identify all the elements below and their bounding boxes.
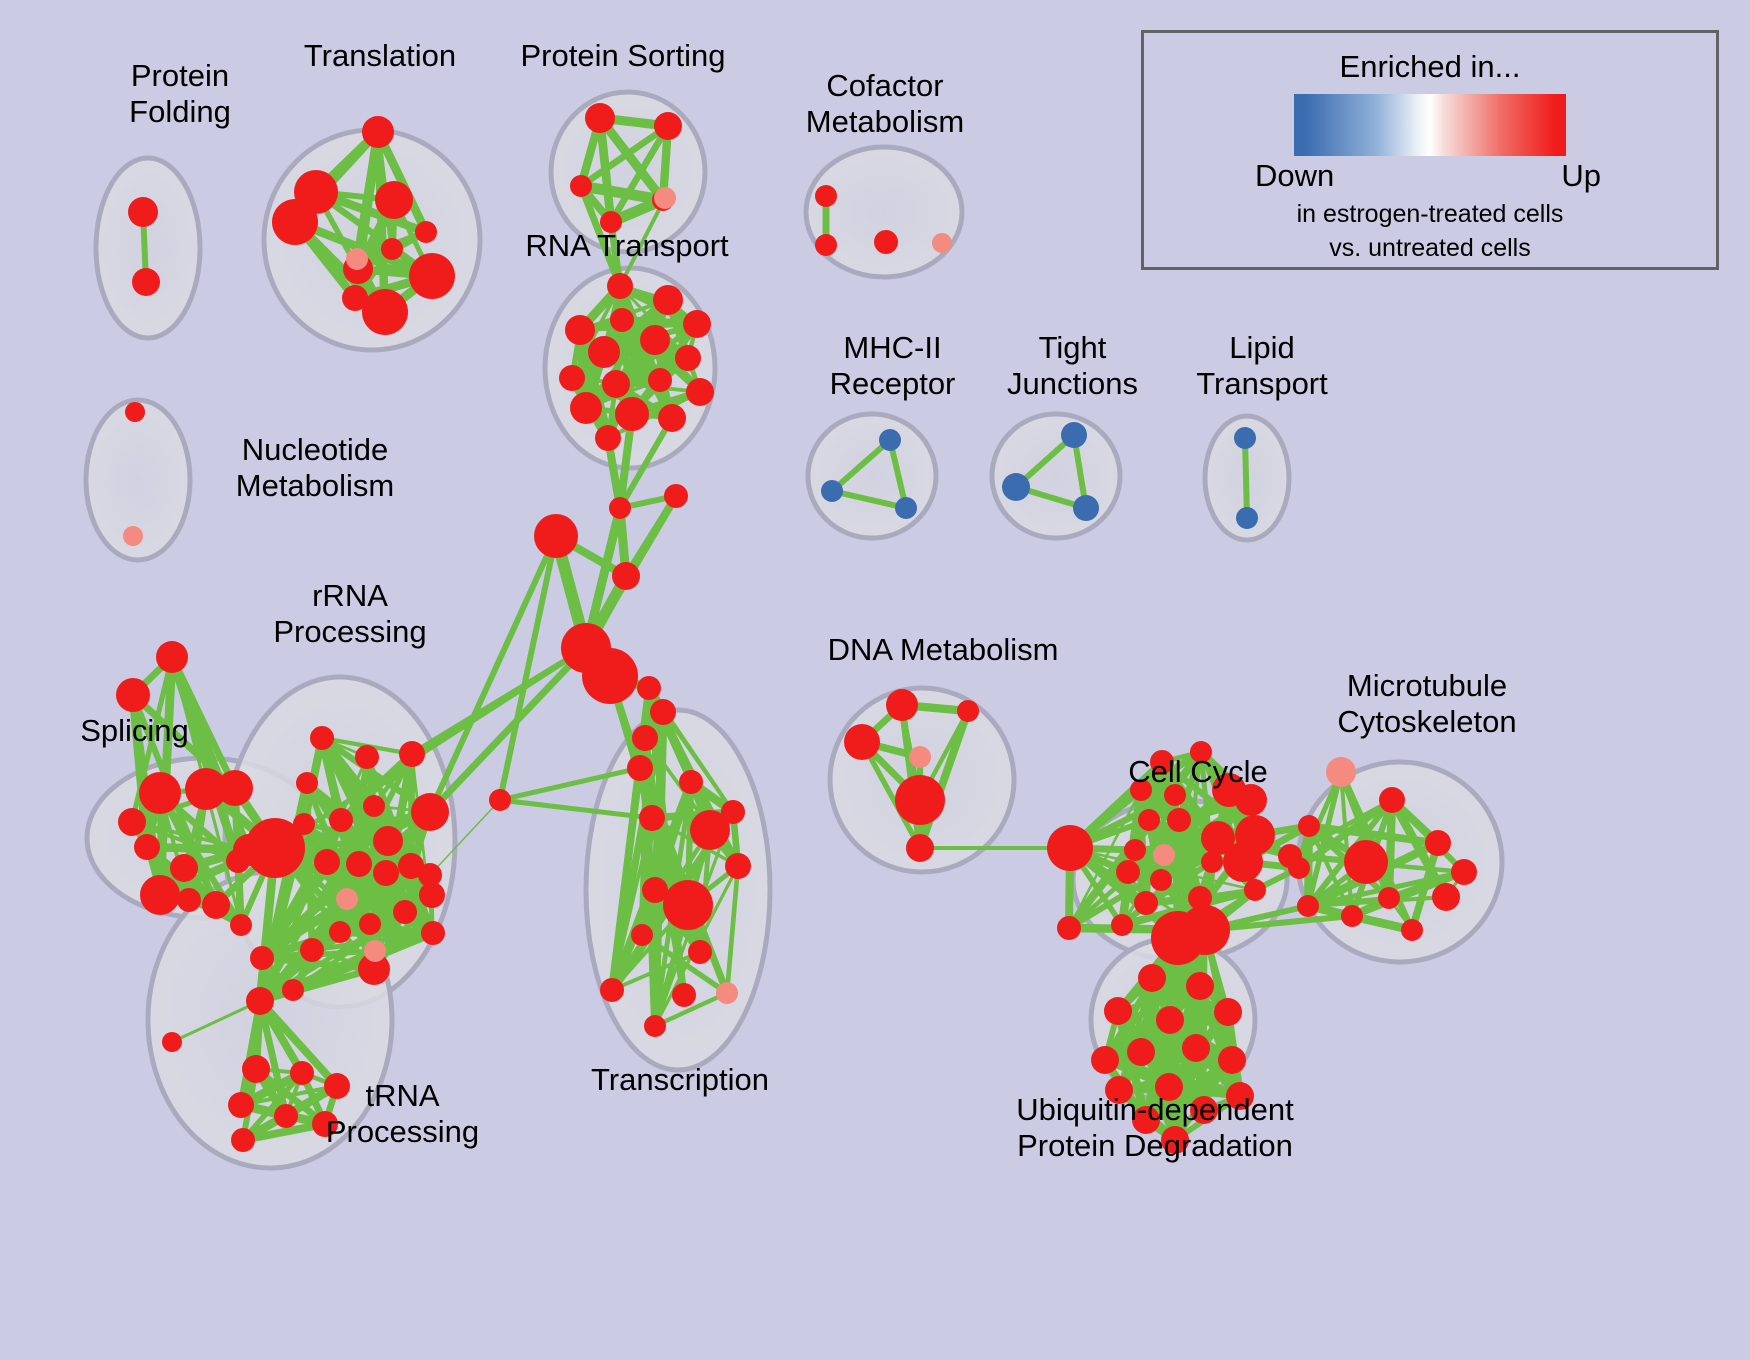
network-node[interactable] bbox=[1451, 859, 1477, 885]
network-node[interactable] bbox=[140, 875, 180, 915]
cluster-label-splicing: Splicing bbox=[62, 713, 207, 749]
cluster-label-cell-cycle: Cell Cycle bbox=[1108, 754, 1288, 790]
network-node[interactable] bbox=[336, 888, 358, 910]
network-node[interactable] bbox=[225, 779, 247, 801]
network-node[interactable] bbox=[1124, 839, 1146, 861]
cluster-label-nucleotide-metabolism: Nucleotide Metabolism bbox=[200, 432, 430, 504]
network-node[interactable] bbox=[663, 880, 713, 930]
network-node[interactable] bbox=[1432, 883, 1460, 911]
network-node[interactable] bbox=[1186, 972, 1214, 1000]
network-node[interactable] bbox=[627, 755, 653, 781]
network-node[interactable] bbox=[272, 199, 318, 245]
network-node[interactable] bbox=[346, 248, 368, 270]
network-node[interactable] bbox=[609, 497, 631, 519]
cluster-label-lipid-transport: Lipid Transport bbox=[1172, 330, 1352, 402]
network-node[interactable] bbox=[1234, 427, 1256, 449]
network-node[interactable] bbox=[1047, 825, 1093, 871]
network-node[interactable] bbox=[874, 230, 898, 254]
network-node[interactable] bbox=[228, 1092, 254, 1118]
network-node[interactable] bbox=[1127, 1038, 1155, 1066]
network-node[interactable] bbox=[1218, 1046, 1246, 1074]
network-node[interactable] bbox=[607, 273, 633, 299]
cluster-label-cofactor-metabolism: Cofactor Metabolism bbox=[790, 68, 980, 140]
network-node[interactable] bbox=[1297, 895, 1319, 917]
network-node[interactable] bbox=[879, 429, 901, 451]
network-node[interactable] bbox=[489, 789, 511, 811]
network-node[interactable] bbox=[602, 370, 630, 398]
network-node[interactable] bbox=[644, 1015, 666, 1037]
network-node[interactable] bbox=[1244, 879, 1266, 901]
legend-box: Enriched in... Down Up in estrogen-treat… bbox=[1141, 30, 1719, 270]
network-node[interactable] bbox=[132, 268, 160, 296]
network-node[interactable] bbox=[570, 392, 602, 424]
network-node[interactable] bbox=[1214, 998, 1242, 1026]
network-node[interactable] bbox=[595, 425, 621, 451]
legend-colorbar-wrap bbox=[1294, 94, 1566, 156]
cluster-label-protein-sorting: Protein Sorting bbox=[508, 38, 738, 74]
network-node[interactable] bbox=[170, 854, 198, 882]
network-edge bbox=[1245, 438, 1247, 518]
legend-colorbar bbox=[1294, 94, 1566, 156]
cluster-ellipse-mhc-ii-receptor[interactable] bbox=[808, 414, 936, 538]
network-node[interactable] bbox=[815, 234, 837, 256]
network-node[interactable] bbox=[1236, 507, 1258, 529]
network-node[interactable] bbox=[300, 938, 324, 962]
network-node[interactable] bbox=[419, 882, 445, 908]
legend-sub-line1: in estrogen-treated cells bbox=[1144, 199, 1716, 230]
network-node[interactable] bbox=[637, 676, 661, 700]
network-node[interactable] bbox=[123, 526, 143, 546]
network-node[interactable] bbox=[679, 770, 703, 794]
network-node[interactable] bbox=[1326, 757, 1356, 787]
network-node[interactable] bbox=[250, 946, 274, 970]
cluster-label-microtubule-cytoskeleton: Microtubule Cytoskeleton bbox=[1312, 668, 1542, 740]
legend-title: Enriched in... bbox=[1144, 49, 1716, 85]
network-node[interactable] bbox=[653, 285, 683, 315]
network-node[interactable] bbox=[1180, 905, 1230, 955]
network-node[interactable] bbox=[363, 795, 385, 817]
network-node[interactable] bbox=[162, 1032, 182, 1052]
network-node[interactable] bbox=[1379, 787, 1405, 813]
network-node[interactable] bbox=[393, 900, 417, 924]
network-node[interactable] bbox=[118, 808, 146, 836]
network-node[interactable] bbox=[1425, 830, 1451, 856]
network-node[interactable] bbox=[615, 397, 649, 431]
network-node[interactable] bbox=[1182, 1034, 1210, 1062]
network-node[interactable] bbox=[821, 480, 843, 502]
network-node[interactable] bbox=[202, 891, 230, 919]
network-node[interactable] bbox=[1134, 891, 1158, 915]
network-node[interactable] bbox=[675, 345, 701, 371]
network-node[interactable] bbox=[329, 921, 351, 943]
network-node[interactable] bbox=[355, 745, 379, 769]
network-node[interactable] bbox=[588, 336, 620, 368]
cluster-label-translation: Translation bbox=[275, 38, 485, 74]
network-node[interactable] bbox=[844, 724, 880, 760]
network-node[interactable] bbox=[156, 641, 188, 673]
network-node[interactable] bbox=[128, 197, 158, 227]
network-node[interactable] bbox=[362, 289, 408, 335]
network-node[interactable] bbox=[246, 987, 274, 1015]
network-node[interactable] bbox=[415, 221, 437, 243]
network-node[interactable] bbox=[242, 1055, 270, 1083]
network-node[interactable] bbox=[648, 368, 672, 392]
network-node[interactable] bbox=[600, 978, 624, 1002]
network-node[interactable] bbox=[373, 826, 403, 856]
network-node[interactable] bbox=[1167, 808, 1191, 832]
cluster-label-rna-transport: RNA Transport bbox=[512, 228, 742, 264]
network-node[interactable] bbox=[639, 805, 665, 831]
network-node[interactable] bbox=[373, 860, 399, 886]
cluster-label-rrna-processing: rRNA Processing bbox=[255, 578, 445, 650]
network-node[interactable] bbox=[116, 678, 150, 712]
network-edge bbox=[1204, 930, 1205, 1110]
network-node[interactable] bbox=[658, 404, 686, 432]
network-node[interactable] bbox=[245, 818, 305, 878]
network-node[interactable] bbox=[585, 103, 615, 133]
network-node[interactable] bbox=[1138, 809, 1160, 831]
network-node[interactable] bbox=[1116, 860, 1140, 884]
network-node[interactable] bbox=[375, 181, 413, 219]
network-node[interactable] bbox=[1057, 916, 1081, 940]
network-node[interactable] bbox=[632, 725, 658, 751]
network-node[interactable] bbox=[570, 175, 592, 197]
network-node[interactable] bbox=[362, 116, 394, 148]
network-node[interactable] bbox=[139, 772, 181, 814]
network-node[interactable] bbox=[565, 315, 595, 345]
network-node[interactable] bbox=[134, 834, 160, 860]
cluster-ellipse-protein-folding[interactable] bbox=[96, 158, 200, 338]
network-node[interactable] bbox=[895, 497, 917, 519]
cluster-label-ubiquitin-protein-degradation: Ubiquitin-dependent Protein Degradation bbox=[995, 1092, 1315, 1164]
legend-endpoints: Down Up bbox=[1255, 158, 1605, 196]
network-node[interactable] bbox=[559, 365, 585, 391]
network-node[interactable] bbox=[725, 853, 751, 879]
network-node[interactable] bbox=[274, 1104, 298, 1128]
network-node[interactable] bbox=[1156, 1006, 1184, 1034]
network-node[interactable] bbox=[399, 741, 425, 767]
network-node[interactable] bbox=[230, 914, 252, 936]
network-node[interactable] bbox=[282, 979, 304, 1001]
network-node[interactable] bbox=[886, 689, 918, 721]
network-node[interactable] bbox=[631, 924, 653, 946]
network-node[interactable] bbox=[296, 772, 318, 794]
network-node[interactable] bbox=[364, 940, 386, 962]
network-node[interactable] bbox=[895, 775, 945, 825]
network-node[interactable] bbox=[1298, 815, 1320, 837]
network-node[interactable] bbox=[610, 308, 634, 332]
network-node[interactable] bbox=[1153, 844, 1175, 866]
network-node[interactable] bbox=[346, 851, 372, 877]
network-node[interactable] bbox=[650, 699, 676, 725]
network-node[interactable] bbox=[359, 913, 381, 935]
network-node[interactable] bbox=[381, 238, 403, 260]
network-edge bbox=[430, 536, 556, 812]
network-node[interactable] bbox=[906, 834, 934, 862]
cluster-label-mhc-ii-receptor: MHC-II Receptor bbox=[800, 330, 985, 402]
cluster-label-dna-metabolism: DNA Metabolism bbox=[818, 632, 1068, 668]
network-node[interactable] bbox=[688, 940, 712, 964]
network-node[interactable] bbox=[310, 726, 334, 750]
network-node[interactable] bbox=[686, 378, 714, 406]
network-node[interactable] bbox=[582, 648, 638, 704]
network-node[interactable] bbox=[640, 325, 670, 355]
network-node[interactable] bbox=[1111, 914, 1133, 936]
cluster-label-protein-folding: Protein Folding bbox=[85, 58, 275, 130]
network-node[interactable] bbox=[1073, 495, 1099, 521]
network-node[interactable] bbox=[231, 1128, 255, 1152]
network-node[interactable] bbox=[721, 800, 745, 824]
network-node[interactable] bbox=[1104, 997, 1132, 1025]
network-node[interactable] bbox=[534, 514, 578, 558]
legend-sub-line2: vs. untreated cells bbox=[1144, 233, 1716, 264]
cluster-label-transcription: Transcription bbox=[575, 1062, 785, 1098]
network-node[interactable] bbox=[1344, 840, 1388, 884]
network-node[interactable] bbox=[329, 808, 353, 832]
network-node[interactable] bbox=[1002, 473, 1030, 501]
network-node[interactable] bbox=[683, 310, 711, 338]
network-node[interactable] bbox=[185, 768, 227, 810]
network-node[interactable] bbox=[932, 233, 952, 253]
network-node[interactable] bbox=[1401, 919, 1423, 941]
network-node[interactable] bbox=[411, 793, 449, 831]
network-node[interactable] bbox=[1138, 964, 1166, 992]
network-node[interactable] bbox=[957, 700, 979, 722]
network-node[interactable] bbox=[125, 402, 145, 422]
network-node[interactable] bbox=[909, 746, 931, 768]
network-node[interactable] bbox=[1091, 1046, 1119, 1074]
network-node[interactable] bbox=[409, 253, 455, 299]
network-node[interactable] bbox=[1061, 422, 1087, 448]
network-node[interactable] bbox=[672, 983, 696, 1007]
network-node[interactable] bbox=[421, 921, 445, 945]
network-node[interactable] bbox=[1201, 851, 1223, 873]
network-node[interactable] bbox=[716, 982, 738, 1004]
network-node[interactable] bbox=[314, 849, 340, 875]
legend-up-label: Up bbox=[1561, 158, 1601, 194]
network-node[interactable] bbox=[1223, 842, 1263, 882]
cluster-label-tight-junctions: Tight Junctions bbox=[985, 330, 1160, 402]
network-node[interactable] bbox=[612, 562, 640, 590]
network-node[interactable] bbox=[654, 112, 682, 140]
network-node[interactable] bbox=[1378, 887, 1400, 909]
network-figure: Protein FoldingTranslationNucleotide Met… bbox=[0, 0, 1750, 1360]
network-node[interactable] bbox=[1341, 905, 1363, 927]
network-node[interactable] bbox=[1278, 844, 1302, 868]
cluster-label-trna-processing: tRNA Processing bbox=[310, 1078, 495, 1150]
legend-down-label: Down bbox=[1255, 158, 1334, 194]
network-node[interactable] bbox=[177, 888, 201, 912]
network-node[interactable] bbox=[815, 185, 837, 207]
network-node[interactable] bbox=[1150, 869, 1172, 891]
network-node[interactable] bbox=[654, 187, 676, 209]
network-node[interactable] bbox=[664, 484, 688, 508]
